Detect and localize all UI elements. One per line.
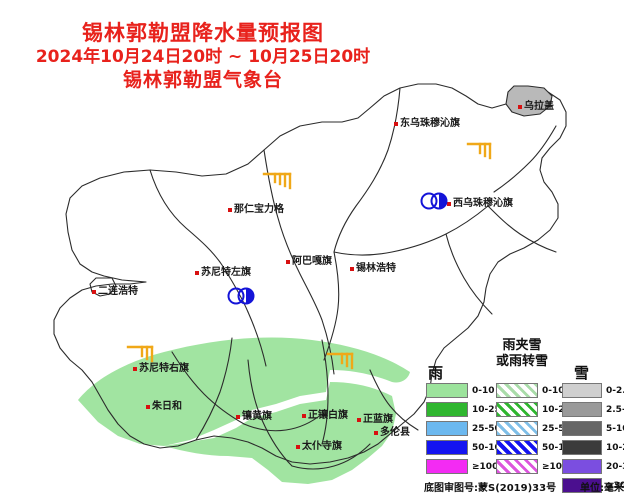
city-label-narenbaolige: 那仁宝力格 <box>228 205 284 216</box>
legend-item: 50-100 <box>426 439 507 456</box>
legend-item: 25-50 <box>426 420 507 437</box>
legend-column-rain: 0-10 10-25 25-50 50-100 ≥100 <box>426 382 507 477</box>
legend-header-rain: 雨 <box>428 362 443 383</box>
legend-label: 5-10 <box>606 424 624 434</box>
legend-item: 0-2.5 <box>562 382 624 399</box>
legend-item: 0-10 <box>426 382 507 399</box>
city-marker-dot <box>92 290 96 294</box>
legend-swatch-snow-2.5-5 <box>562 402 602 417</box>
legend-item: 20-30 <box>562 458 624 475</box>
map-approval-number: 底图审图号:蒙S(2019)33号 <box>424 479 556 494</box>
city-marker-dot <box>146 405 150 409</box>
city-marker-dot <box>195 271 199 275</box>
legend-header-sleet-line2: 或雨转雪 <box>480 354 564 370</box>
legend-label: 0-2.5 <box>606 386 624 396</box>
legend-label: 2.5-5 <box>606 405 624 415</box>
unit-label: 单位:毫米 <box>580 479 624 494</box>
legend-label: 20-30 <box>606 462 624 472</box>
legend-swatch-snow-10-20 <box>562 440 602 455</box>
legend-item: 2.5-5 <box>562 401 624 418</box>
precipitation-forecast-map-page: 锡林郭勒盟降水量预报图 2024年10月24日20时 ~ 10月25日20时 锡… <box>0 0 624 500</box>
legend-label: 0-10 <box>472 386 495 396</box>
legend-item: 5-10 <box>562 420 624 437</box>
legend: 雨 雨夹雪 或雨转雪 雪 0-10 10-25 25-50 50-100 <box>424 336 624 500</box>
legend-header-snow: 雪 <box>574 362 589 383</box>
legend-swatch-rain-25-50 <box>426 421 468 436</box>
legend-swatch-rain-10-25 <box>426 402 468 417</box>
city-marker-dot <box>296 445 300 449</box>
city-marker-dot <box>357 418 361 422</box>
legend-item: 10-20 <box>562 439 624 456</box>
legend-swatch-sleet-ge100 <box>496 459 538 474</box>
city-label-dongwuzhumuqinqi: 东乌珠穆沁旗 <box>394 119 460 130</box>
legend-label: 10-20 <box>606 443 624 453</box>
city-label-xilinhaote: 锡林浩特 <box>350 264 396 275</box>
wind-barb-symbol-north <box>262 166 294 192</box>
wind-barb-symbol-southeast <box>326 348 356 372</box>
legend-swatch-rain-ge100 <box>426 459 468 474</box>
city-marker-dot <box>133 367 137 371</box>
snow-station-symbol-sunitezuoqi <box>227 285 257 307</box>
city-label-zhengxiangbaiqi: 正镶白旗 <box>302 411 348 422</box>
city-label-zhenglanqi: 正蓝旗 <box>357 415 393 426</box>
legend-item: ≥100 <box>426 458 507 475</box>
legend-header-sleet: 雨夹雪 或雨转雪 <box>480 338 564 371</box>
city-label-duolunxian: 多伦县 <box>374 428 410 439</box>
legend-item: 10-25 <box>426 401 507 418</box>
city-marker-dot <box>302 414 306 418</box>
snow-station-symbol-xiwuzhumuqin <box>420 190 450 212</box>
city-label-suniteyouqi: 苏尼特右旗 <box>133 364 189 375</box>
legend-swatch-snow-0-2.5 <box>562 383 602 398</box>
city-label-abagaqi: 阿巴嘎旗 <box>286 257 332 268</box>
city-label-xiwuzhumuqinqi: 西乌珠穆沁旗 <box>447 199 513 210</box>
city-label-taipusiqi: 太仆寺旗 <box>296 442 342 453</box>
city-label-xianghuangqi: 镶黄旗 <box>236 412 272 423</box>
wind-barb-symbol-southwest <box>126 341 156 365</box>
city-marker-dot <box>286 260 290 264</box>
legend-swatch-sleet-25-50 <box>496 421 538 436</box>
legend-footer: 底图审图号:蒙S(2019)33号 单位:毫米 <box>424 479 624 494</box>
legend-swatch-snow-20-30 <box>562 459 602 474</box>
legend-swatch-snow-5-10 <box>562 421 602 436</box>
city-label-erlianhaote: 二连浩特 <box>92 287 138 298</box>
legend-label: ≥100 <box>472 462 498 472</box>
city-marker-dot <box>236 415 240 419</box>
legend-swatch-rain-0-10 <box>426 383 468 398</box>
legend-swatch-sleet-50-100 <box>496 440 538 455</box>
city-marker-dot <box>518 105 522 109</box>
city-label-wulagai: 乌拉盖 <box>518 102 554 113</box>
city-marker-dot <box>374 431 378 435</box>
legend-swatch-sleet-10-25 <box>496 402 538 417</box>
wind-barb-symbol-northeast <box>466 138 494 162</box>
city-label-zhurihe: 朱日和 <box>146 402 182 413</box>
city-marker-dot <box>350 267 354 271</box>
legend-header-sleet-line1: 雨夹雪 <box>480 338 564 354</box>
city-marker-dot <box>228 208 232 212</box>
legend-swatch-rain-50-100 <box>426 440 468 455</box>
city-label-sunitezuoqi: 苏尼特左旗 <box>195 268 251 279</box>
city-marker-dot <box>394 122 398 126</box>
legend-swatch-sleet-0-10 <box>496 383 538 398</box>
